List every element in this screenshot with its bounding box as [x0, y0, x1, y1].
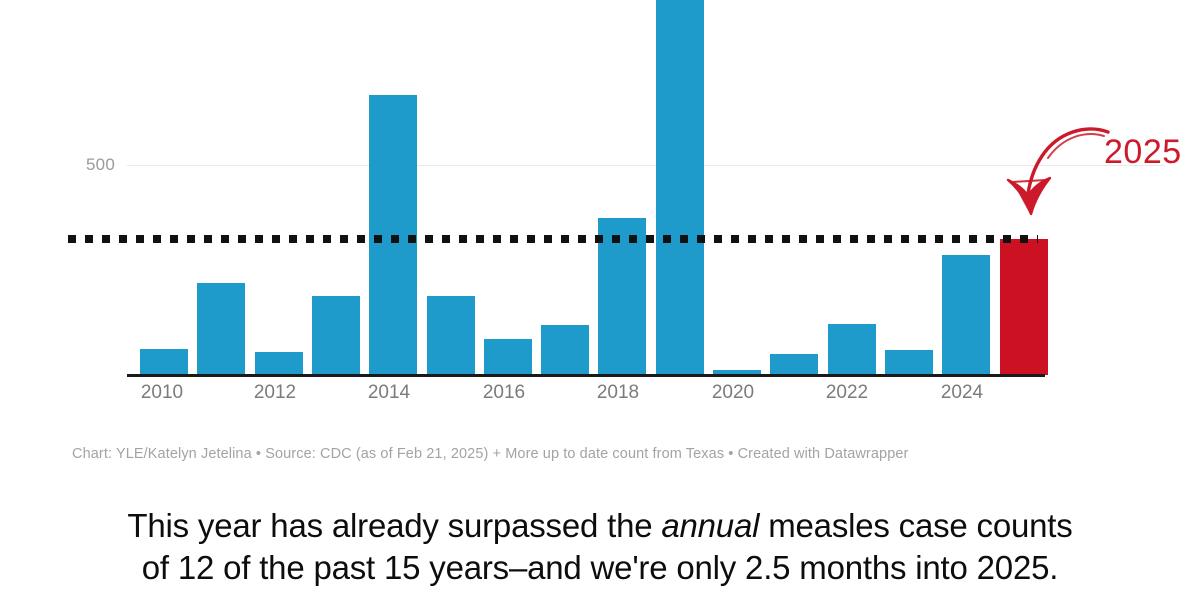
- bar-2021[interactable]: [770, 354, 818, 375]
- bar-2025[interactable]: [1000, 239, 1048, 375]
- bar-2024[interactable]: [942, 255, 990, 375]
- annotation-label-2025: 2025: [1104, 133, 1182, 172]
- y-axis-tick-500: 500: [86, 155, 115, 175]
- bar-2010[interactable]: [140, 349, 188, 375]
- bar-2022[interactable]: [828, 324, 876, 375]
- bar-2015[interactable]: [427, 296, 475, 375]
- bar-2011[interactable]: [197, 283, 245, 375]
- caption-line-1-before: This year has already surpassed the: [127, 507, 661, 544]
- curved-arrow-icon: [990, 118, 1120, 228]
- bar-2023[interactable]: [885, 350, 933, 375]
- x-axis-tick-2010: 2010: [141, 382, 183, 404]
- x-axis-tick-2020: 2020: [712, 382, 754, 404]
- caption-line-1: This year has already surpassed the annu…: [0, 505, 1200, 547]
- chart-credit-line: Chart: YLE/Katelyn Jetelina • Source: CD…: [72, 444, 1002, 465]
- x-axis-tick-2016: 2016: [483, 382, 525, 404]
- x-axis-tick-2022: 2022: [826, 382, 868, 404]
- x-axis-tick-2018: 2018: [597, 382, 639, 404]
- caption-line-1-after: measles case counts: [759, 507, 1072, 544]
- bar-2013[interactable]: [312, 296, 360, 375]
- x-axis-tick-2024: 2024: [941, 382, 983, 404]
- bar-2016[interactable]: [484, 339, 532, 375]
- x-axis-baseline: [127, 374, 1045, 377]
- x-axis-tick-2012: 2012: [254, 382, 296, 404]
- bar-2019[interactable]: [656, 0, 704, 375]
- threshold-dotted-line: [68, 235, 1038, 243]
- x-axis-tick-2014: 2014: [368, 382, 410, 404]
- caption-text: This year has already surpassed the annu…: [0, 505, 1200, 589]
- caption-emphasis-annual: annual: [661, 507, 759, 544]
- bar-2017[interactable]: [541, 325, 589, 375]
- plot-area: 500 20102012201420162018202020222024 202…: [0, 0, 1200, 435]
- bar-2012[interactable]: [255, 352, 303, 375]
- measles-bar-chart: 500 20102012201420162018202020222024 202…: [0, 0, 1200, 435]
- caption-line-2: of 12 of the past 15 years–and we're onl…: [0, 547, 1200, 589]
